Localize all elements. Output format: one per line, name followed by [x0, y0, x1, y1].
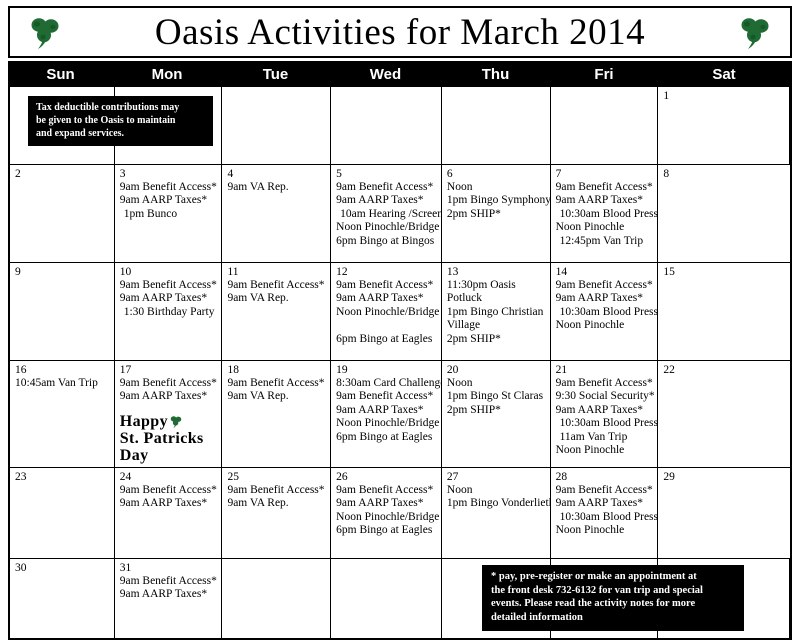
day-number: 1: [663, 90, 785, 102]
calendar-page: Oasis Activities for March 2014 Sun: [0, 0, 800, 643]
day-number: 5: [336, 168, 437, 180]
donation-note-line: be given to the Oasis to maintain: [36, 114, 206, 127]
event-item: 1pm Bingo Vonderlieth: [447, 497, 546, 510]
st-patricks-line-2: St. Patricks Day: [120, 430, 204, 464]
event-item: 9am VA Rep.: [227, 390, 326, 403]
event-item: Village: [447, 319, 546, 332]
day-cell-3[interactable]: 39am Benefit Access*9am AARP Taxes* 1pm …: [115, 165, 223, 262]
day-number: 29: [663, 471, 786, 483]
event-item: 9am VA Rep.: [227, 497, 326, 510]
event-item: 9am Benefit Access*: [227, 279, 326, 292]
day-cell-29[interactable]: 29: [658, 468, 790, 558]
event-item: Noon: [447, 484, 546, 497]
st-patricks-line-1: Happy: [120, 413, 168, 430]
day-number: 8: [663, 168, 786, 180]
day-cell-8[interactable]: 8: [658, 165, 790, 262]
event-item: 9am Benefit Access*: [556, 279, 654, 292]
weekday-thu: Thu: [441, 61, 550, 87]
calendar-week-row: 1610:45am Van Trip179am Benefit Access*9…: [10, 361, 790, 468]
event-item: 9am AARP Taxes*: [120, 390, 218, 403]
day-cell-5[interactable]: 59am Benefit Access*9am AARP Taxes* 10am…: [331, 165, 442, 262]
event-item: 10:30am Blood Pressure: [556, 511, 654, 524]
day-cell-empty[interactable]: [551, 87, 659, 164]
day-number: 11: [227, 266, 326, 278]
day-number: 13: [447, 266, 546, 278]
calendar-week-row: 9109am Benefit Access*9am AARP Taxes* 1:…: [10, 263, 790, 361]
day-number: 3: [120, 168, 218, 180]
event-item: 6pm Bingo at Eagles: [336, 524, 437, 537]
day-cell-10[interactable]: 109am Benefit Access*9am AARP Taxes* 1:3…: [115, 263, 223, 360]
calendar-week-row: 23249am Benefit Access*9am AARP Taxes*25…: [10, 468, 790, 559]
day-cell-empty[interactable]: [222, 559, 331, 638]
event-item: 9am Benefit Access*: [120, 181, 218, 194]
day-number: 14: [556, 266, 654, 278]
event-item: 12:45pm Van Trip: [556, 235, 654, 248]
day-cell-9[interactable]: 9: [10, 263, 115, 360]
event-item: 9am Benefit Access*: [227, 377, 326, 390]
event-item: 2pm SHIP*: [447, 404, 546, 417]
event-item: 9am AARP Taxes*: [336, 292, 437, 305]
event-item: 9am AARP Taxes*: [120, 292, 218, 305]
shamrock-icon: [28, 15, 62, 51]
day-number: 22: [663, 364, 786, 376]
day-number: 15: [663, 266, 786, 278]
event-item: 11am Van Trip: [556, 431, 654, 444]
event-item: Noon Pinochle: [556, 444, 654, 457]
day-cell-15[interactable]: 15: [658, 263, 790, 360]
event-item: 9am AARP Taxes*: [556, 194, 654, 207]
event-item: 1:30 Birthday Party: [120, 306, 218, 319]
day-cell-4[interactable]: 49am VA Rep.: [222, 165, 331, 262]
day-cell-19[interactable]: 198:30am Card Challenge9am Benefit Acces…: [331, 361, 442, 467]
event-item: 11:30pm Oasis: [447, 279, 546, 292]
day-number: 21: [556, 364, 654, 376]
day-cell-11[interactable]: 119am Benefit Access*9am VA Rep.: [222, 263, 331, 360]
day-number: 12: [336, 266, 437, 278]
event-spacer: [336, 319, 437, 332]
event-item: 1pm Bingo Christian: [447, 306, 546, 319]
day-cell-2[interactable]: 2: [10, 165, 115, 262]
calendar-title-bar: Oasis Activities for March 2014: [8, 6, 792, 58]
day-cell-18[interactable]: 189am Benefit Access*9am VA Rep.: [222, 361, 331, 467]
day-number: 2: [15, 168, 110, 180]
day-number: 27: [447, 471, 546, 483]
weekday-wed: Wed: [330, 61, 441, 87]
event-item: 10am Hearing /Screen*: [336, 208, 437, 221]
footer-note-line: * pay, pre-register or make an appointme…: [491, 570, 736, 584]
event-item: 9am AARP Taxes*: [556, 292, 654, 305]
day-cell-17[interactable]: 179am Benefit Access*9am AARP Taxes*Happ…: [115, 361, 223, 467]
event-item: 1pm Bingo St Claras: [447, 390, 546, 403]
event-item: Noon Pinochle/Bridge: [336, 511, 437, 524]
day-number: 24: [120, 471, 218, 483]
event-item: Noon Pinochle/Bridge: [336, 221, 437, 234]
event-item: 2pm SHIP*: [447, 208, 546, 221]
day-cell-26[interactable]: 269am Benefit Access*9am AARP Taxes*Noon…: [331, 468, 442, 558]
donation-note-line: Tax deductible contributions may: [36, 101, 206, 114]
st-patricks-greeting: HappySt. Patricks Day: [120, 413, 218, 464]
day-cell-28[interactable]: 289am Benefit Access*9am AARP Taxes* 10:…: [551, 468, 659, 558]
day-cell-14[interactable]: 149am Benefit Access*9am AARP Taxes* 10:…: [551, 263, 659, 360]
event-item: Noon Pinochle: [556, 524, 654, 537]
event-item: 2pm SHIP*: [447, 333, 546, 346]
event-item: 9am Benefit Access*: [336, 181, 437, 194]
event-item: 9am VA Rep.: [227, 292, 326, 305]
event-item: 10:30am Blood Pressure: [556, 417, 654, 430]
day-number: 10: [120, 266, 218, 278]
event-item: 10:45am Van Trip: [15, 377, 110, 390]
day-number: 30: [15, 562, 110, 574]
day-cell-24[interactable]: 249am Benefit Access*9am AARP Taxes*: [115, 468, 223, 558]
day-cell-30[interactable]: 30: [10, 559, 115, 638]
event-item: 9am Benefit Access*: [336, 484, 437, 497]
event-item: Noon Pinochle: [556, 319, 654, 332]
calendar-week-row: 1Tax deductible contributions maybe give…: [10, 87, 790, 165]
weekday-header-row: Sun Mon Tue Wed Thu Fri Sat: [8, 61, 792, 87]
day-number: 16: [15, 364, 110, 376]
weekday-tue: Tue: [221, 61, 330, 87]
day-cell-16[interactable]: 1610:45am Van Trip: [10, 361, 115, 467]
event-item: 9am Benefit Access*: [336, 390, 437, 403]
event-item: Noon Pinochle: [556, 221, 654, 234]
day-number: 6: [447, 168, 546, 180]
event-item: 9am AARP Taxes*: [120, 588, 218, 601]
calendar-week-row: 30319am Benefit Access*9am AARP Taxes** …: [10, 559, 790, 638]
event-item: 6pm Bingo at Eagles: [336, 431, 437, 444]
day-cell-20[interactable]: 20Noon1pm Bingo St Claras2pm SHIP*: [442, 361, 551, 467]
day-cell-empty[interactable]: [222, 87, 331, 164]
event-item: 9am AARP Taxes*: [120, 194, 218, 207]
shamrock-icon: [738, 15, 772, 51]
event-item: 1pm Bunco: [120, 208, 218, 221]
event-item: 9am Benefit Access*: [120, 377, 218, 390]
event-item: 9am VA Rep.: [227, 181, 326, 194]
footer-note-line: events. Please read the activity notes f…: [491, 597, 736, 611]
event-item: 6pm Bingo at Bingos: [336, 235, 437, 248]
day-number: 4: [227, 168, 326, 180]
day-cell-22[interactable]: 22: [658, 361, 790, 467]
donation-note-box: Tax deductible contributions maybe given…: [28, 96, 213, 146]
event-item: 9am AARP Taxes*: [336, 404, 437, 417]
event-item: 9am Benefit Access*: [227, 484, 326, 497]
day-number: 23: [15, 471, 110, 483]
day-number: 7: [556, 168, 654, 180]
day-number: 26: [336, 471, 437, 483]
calendar-week-row: 239am Benefit Access*9am AARP Taxes* 1pm…: [10, 165, 790, 263]
weekday-mon: Mon: [113, 61, 221, 87]
day-number: 18: [227, 364, 326, 376]
event-item: Noon: [447, 377, 546, 390]
day-cell-27[interactable]: 27Noon1pm Bingo Vonderlieth: [442, 468, 551, 558]
event-item: 9am Benefit Access*: [120, 575, 218, 588]
day-number: 19: [336, 364, 437, 376]
day-number: 20: [447, 364, 546, 376]
weekday-sun: Sun: [8, 61, 113, 87]
event-item: 9am AARP Taxes*: [556, 497, 654, 510]
weekday-fri: Fri: [550, 61, 658, 87]
event-item: 9am Benefit Access*: [120, 279, 218, 292]
day-cell-13[interactable]: 1311:30pm OasisPotluck1pm Bingo Christia…: [442, 263, 551, 360]
event-item: 8:30am Card Challenge: [336, 377, 437, 390]
event-item: 10:30am Blood Pressure: [556, 306, 654, 319]
day-cell-25[interactable]: 259am Benefit Access*9am VA Rep.: [222, 468, 331, 558]
event-item: 9am AARP Taxes*: [336, 497, 437, 510]
event-item: 9am AARP Taxes*: [120, 497, 218, 510]
day-cell-23[interactable]: 23: [10, 468, 115, 558]
donation-note-line: and expand services.: [36, 127, 206, 140]
event-item: 10:30am Blood Pressure: [556, 208, 654, 221]
calendar-grid: 1Tax deductible contributions maybe give…: [8, 87, 792, 640]
day-cell-6[interactable]: 6Noon1pm Bingo Symphony2pm SHIP*: [442, 165, 551, 262]
event-item: Noon Pinochle/Bridge: [336, 417, 437, 430]
day-cell-empty[interactable]: [331, 87, 442, 164]
event-item: 9am Benefit Access*: [556, 484, 654, 497]
event-item: 1pm Bingo Symphony: [447, 194, 546, 207]
day-cell-7[interactable]: 79am Benefit Access*9am AARP Taxes* 10:3…: [551, 165, 659, 262]
day-cell-1[interactable]: 1: [658, 87, 790, 164]
footer-note-line: the front desk 732-6132 for van trip and…: [491, 584, 736, 598]
weekday-sat: Sat: [658, 61, 790, 87]
footer-note-box: * pay, pre-register or make an appointme…: [482, 565, 744, 631]
footer-note-line: detailed information: [491, 611, 736, 625]
event-item: 9am Benefit Access*: [556, 181, 654, 194]
day-number: 25: [227, 471, 326, 483]
event-item: 9am AARP Taxes*: [556, 404, 654, 417]
day-number: 17: [120, 364, 218, 376]
event-item: Potluck: [447, 292, 546, 305]
event-item: 9am Benefit Access*: [336, 279, 437, 292]
event-item: Noon: [447, 181, 546, 194]
page-title: Oasis Activities for March 2014: [155, 14, 645, 51]
day-number: 9: [15, 266, 110, 278]
event-item: 9am Benefit Access*: [556, 377, 654, 390]
event-item: 9:30 Social Security*: [556, 390, 654, 403]
day-number: 28: [556, 471, 654, 483]
day-cell-empty[interactable]: [331, 559, 442, 638]
event-item: 6pm Bingo at Eagles: [336, 333, 437, 346]
day-cell-21[interactable]: 219am Benefit Access*9:30 Social Securit…: [551, 361, 659, 467]
event-item: Noon Pinochle/Bridge: [336, 306, 437, 319]
day-cell-empty[interactable]: [442, 87, 551, 164]
event-item: 9am Benefit Access*: [120, 484, 218, 497]
event-item: 9am AARP Taxes*: [336, 194, 437, 207]
shamrock-icon: [169, 415, 183, 429]
day-cell-31[interactable]: 319am Benefit Access*9am AARP Taxes*: [115, 559, 223, 638]
day-number: 31: [120, 562, 218, 574]
day-cell-12[interactable]: 129am Benefit Access*9am AARP Taxes*Noon…: [331, 263, 442, 360]
